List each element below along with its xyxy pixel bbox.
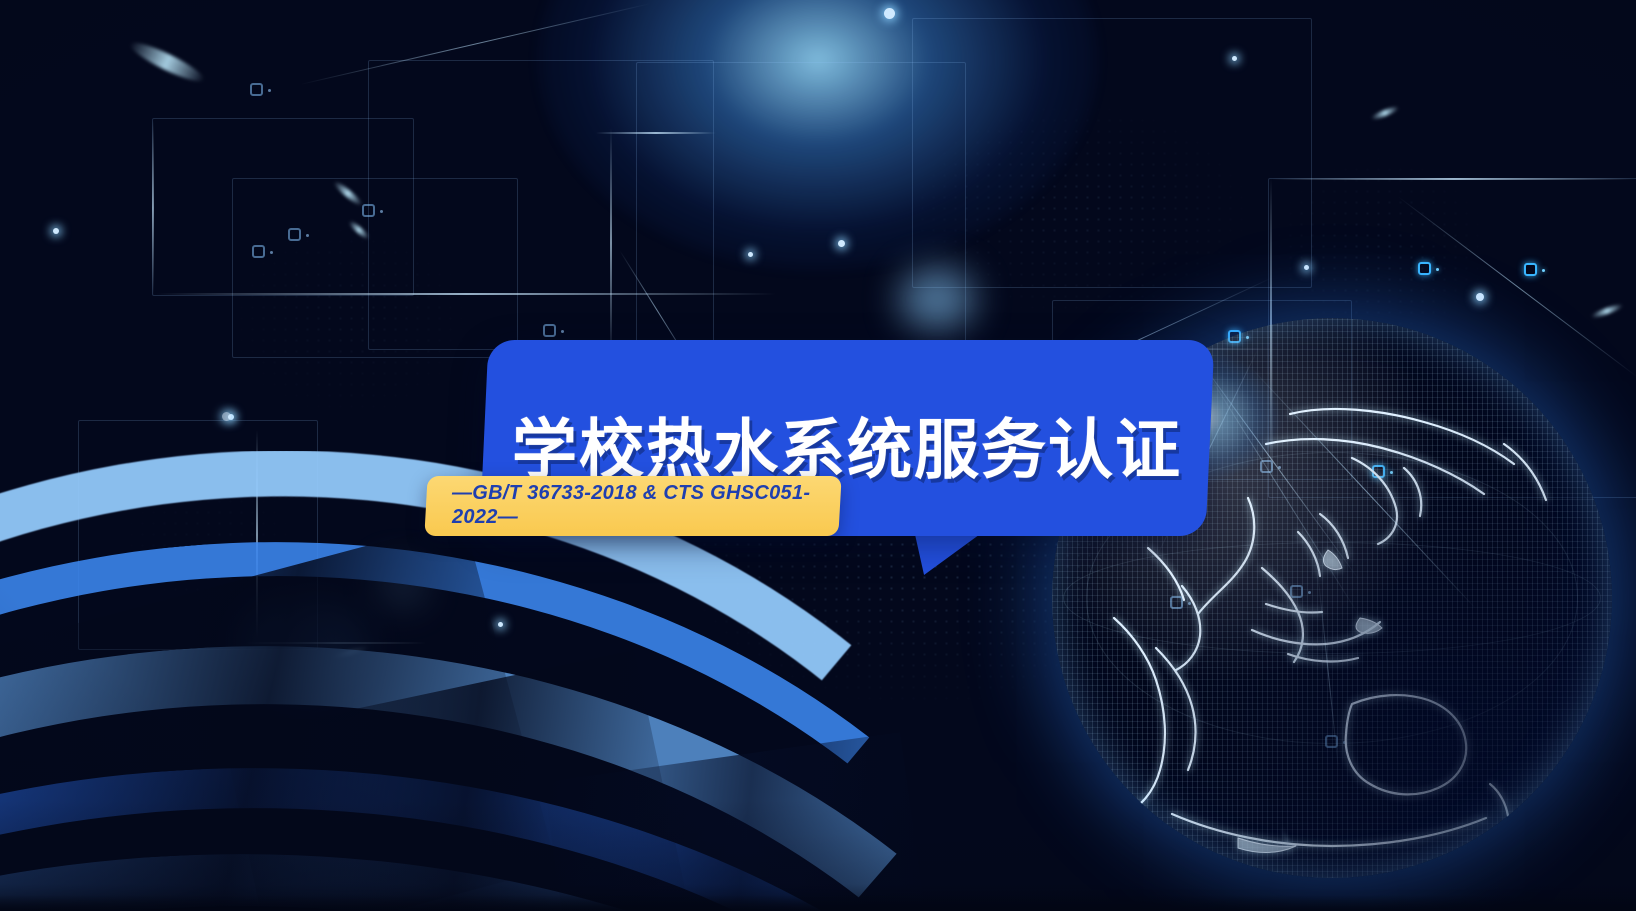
poster-canvas: 学校热水系统服务认证 —GB/T 36733-2018 & CTS GHSC05…	[0, 0, 1636, 911]
bottom-edge-shade	[0, 895, 1636, 911]
vignette-overlay	[0, 0, 1636, 911]
